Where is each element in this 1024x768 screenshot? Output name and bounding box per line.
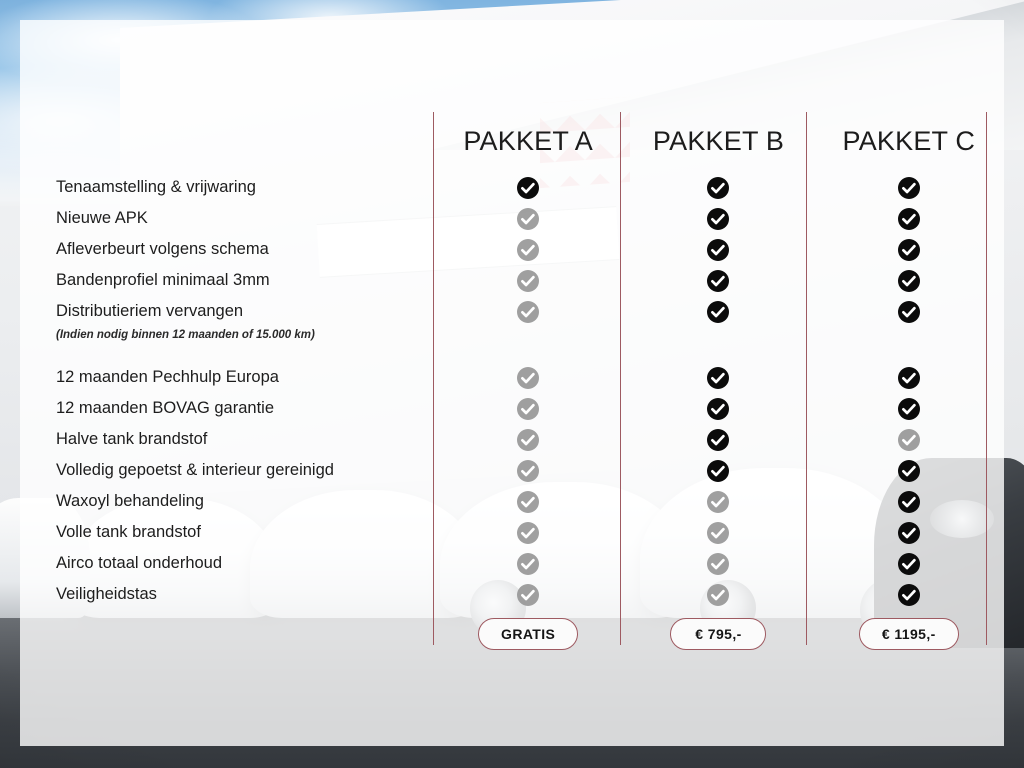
mark-cell-b: [623, 455, 813, 486]
feature-row: 12 maanden BOVAG garantie: [36, 393, 1004, 424]
check-circle-icon: [707, 367, 729, 389]
check-circle-icon: [898, 270, 920, 292]
mark-cell-c: [814, 455, 1004, 486]
check-circle-icon: [517, 460, 539, 482]
mark-cell-b: [623, 172, 813, 203]
mark-cell-c: [814, 362, 1004, 393]
feature-marks: [433, 486, 1004, 517]
check-circle-icon: [707, 584, 729, 606]
feature-marks: [433, 296, 1004, 327]
check-circle-icon: [517, 208, 539, 230]
package-header-c: PAKKET C: [814, 112, 1004, 170]
mark-cell-b: [623, 424, 813, 455]
check-circle-icon: [898, 367, 920, 389]
price-badge-b[interactable]: € 795,-: [670, 618, 766, 650]
feature-row: 12 maanden Pechhulp Europa: [36, 362, 1004, 393]
check-circle-icon: [898, 398, 920, 420]
mark-cell-c: [814, 393, 1004, 424]
feature-marks: [433, 234, 1004, 265]
feature-label: Volledig gepoetst & interieur gereinigd: [56, 455, 334, 486]
mark-cell-b: [623, 486, 813, 517]
mark-cell-b: [623, 517, 813, 548]
check-circle-icon: [517, 491, 539, 513]
check-circle-icon: [898, 460, 920, 482]
check-circle-icon: [898, 522, 920, 544]
check-circle-icon: [898, 208, 920, 230]
feature-row: Waxoyl behandeling: [36, 486, 1004, 517]
mark-cell-c: [814, 296, 1004, 327]
mark-cell-b: [623, 296, 813, 327]
feature-marks: [433, 172, 1004, 203]
mark-cell-a: [433, 517, 623, 548]
feature-sublabel: (Indien nodig binnen 12 maanden of 15.00…: [56, 327, 1024, 344]
mark-cell-a: [433, 548, 623, 579]
mark-cell-a: [433, 362, 623, 393]
check-circle-icon: [898, 429, 920, 451]
mark-cell-b: [623, 362, 813, 393]
feature-group-gap: [36, 344, 1004, 362]
mark-cell-a: [433, 579, 623, 610]
feature-row: Afleverbeurt volgens schema: [36, 234, 1004, 265]
mark-cell-a: [433, 455, 623, 486]
feature-marks: [433, 265, 1004, 296]
check-circle-icon: [898, 301, 920, 323]
package-comparison-table: PAKKET A PAKKET B PAKKET C Tenaamstellin…: [20, 20, 1004, 746]
check-circle-icon: [517, 553, 539, 575]
mark-cell-a: [433, 234, 623, 265]
mark-cell-c: [814, 265, 1004, 296]
check-circle-icon: [898, 584, 920, 606]
mark-cell-c: [814, 424, 1004, 455]
feature-marks: [433, 362, 1004, 393]
feature-marks: [433, 517, 1004, 548]
price-row: GRATIS € 795,- € 1195,-: [433, 617, 1004, 651]
check-circle-icon: [707, 491, 729, 513]
check-circle-icon: [707, 429, 729, 451]
feature-label: 12 maanden BOVAG garantie: [56, 393, 274, 424]
package-header-b: PAKKET B: [623, 112, 813, 170]
price-cell-a: GRATIS: [433, 617, 623, 651]
feature-marks: [433, 455, 1004, 486]
feature-marks: [433, 579, 1004, 610]
feature-row: Distributieriem vervangen: [36, 296, 1004, 327]
check-circle-icon: [707, 460, 729, 482]
feature-label: Volle tank brandstof: [56, 517, 201, 548]
feature-label: Bandenprofiel minimaal 3mm: [56, 265, 270, 296]
price-cell-c: € 1195,-: [814, 617, 1004, 651]
check-circle-icon: [707, 177, 729, 199]
check-circle-icon: [517, 584, 539, 606]
check-circle-icon: [707, 301, 729, 323]
feature-label: Veiligheidstas: [56, 579, 157, 610]
check-circle-icon: [898, 491, 920, 513]
check-circle-icon: [707, 522, 729, 544]
check-circle-icon: [517, 398, 539, 420]
content-panel: PAKKET A PAKKET B PAKKET C Tenaamstellin…: [20, 20, 1004, 746]
package-header-row: PAKKET A PAKKET B PAKKET C: [433, 112, 1004, 170]
feature-row: Veiligheidstas: [36, 579, 1004, 610]
feature-marks: [433, 548, 1004, 579]
mark-cell-b: [623, 548, 813, 579]
mark-cell-c: [814, 517, 1004, 548]
feature-label: Distributieriem vervangen: [56, 296, 243, 327]
feature-row: Airco totaal onderhoud: [36, 548, 1004, 579]
check-circle-icon: [707, 239, 729, 261]
check-circle-icon: [517, 301, 539, 323]
feature-row: Nieuwe APK: [36, 203, 1004, 234]
feature-row: Bandenprofiel minimaal 3mm: [36, 265, 1004, 296]
feature-label: Tenaamstelling & vrijwaring: [56, 172, 256, 203]
mark-cell-b: [623, 579, 813, 610]
mark-cell-c: [814, 486, 1004, 517]
feature-row: Volledig gepoetst & interieur gereinigd: [36, 455, 1004, 486]
feature-marks: [433, 424, 1004, 455]
feature-label: Waxoyl behandeling: [56, 486, 204, 517]
mark-cell-c: [814, 579, 1004, 610]
check-circle-icon: [517, 429, 539, 451]
feature-row: Tenaamstelling & vrijwaring: [36, 172, 1004, 203]
mark-cell-b: [623, 393, 813, 424]
mark-cell-a: [433, 203, 623, 234]
check-circle-icon: [707, 270, 729, 292]
mark-cell-b: [623, 265, 813, 296]
check-circle-icon: [898, 177, 920, 199]
check-circle-icon: [707, 208, 729, 230]
check-circle-icon: [517, 522, 539, 544]
feature-label: Nieuwe APK: [56, 203, 148, 234]
mark-cell-b: [623, 203, 813, 234]
mark-cell-c: [814, 234, 1004, 265]
mark-cell-a: [433, 486, 623, 517]
mark-cell-a: [433, 296, 623, 327]
check-circle-icon: [898, 239, 920, 261]
price-badge-a[interactable]: GRATIS: [478, 618, 578, 650]
mark-cell-a: [433, 172, 623, 203]
check-circle-icon: [517, 367, 539, 389]
check-circle-icon: [898, 553, 920, 575]
check-circle-icon: [517, 239, 539, 261]
mark-cell-b: [623, 234, 813, 265]
feature-marks: [433, 203, 1004, 234]
feature-row: Volle tank brandstof: [36, 517, 1004, 548]
price-cell-b: € 795,-: [623, 617, 813, 651]
feature-label: Airco totaal onderhoud: [56, 548, 222, 579]
feature-label: Halve tank brandstof: [56, 424, 207, 455]
mark-cell-a: [433, 265, 623, 296]
feature-rows: Tenaamstelling & vrijwaringNieuwe APKAfl…: [36, 172, 1004, 610]
feature-row: Halve tank brandstof: [36, 424, 1004, 455]
feature-label: Afleverbeurt volgens schema: [56, 234, 269, 265]
check-circle-icon: [707, 553, 729, 575]
package-header-a: PAKKET A: [433, 112, 623, 170]
price-badge-c[interactable]: € 1195,-: [859, 618, 959, 650]
feature-marks: [433, 393, 1004, 424]
mark-cell-a: [433, 424, 623, 455]
check-circle-icon: [707, 398, 729, 420]
mark-cell-c: [814, 548, 1004, 579]
mark-cell-c: [814, 172, 1004, 203]
feature-label: 12 maanden Pechhulp Europa: [56, 362, 279, 393]
check-circle-icon: [517, 270, 539, 292]
mark-cell-a: [433, 393, 623, 424]
check-circle-icon: [517, 177, 539, 199]
mark-cell-c: [814, 203, 1004, 234]
